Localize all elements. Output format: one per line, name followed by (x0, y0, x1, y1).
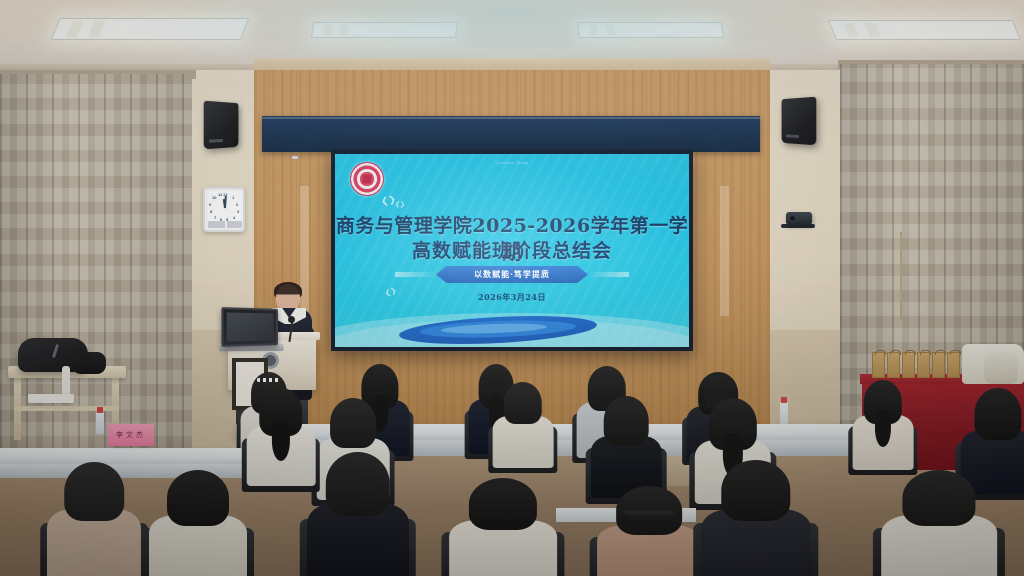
ceiling-light-2 (311, 22, 458, 38)
side-table-rail (14, 406, 119, 411)
slide-surface: Creative Study ❮❯ ❮❯ ❮❯ 商务与管理学院2025-2026… (335, 154, 689, 347)
clock-tick: 10 (212, 195, 216, 200)
name-placard-text: 李文杰 (116, 430, 146, 440)
audience-hair (330, 398, 376, 448)
ceiling-light-1 (51, 18, 250, 40)
wall-speaker-left (204, 101, 239, 150)
audience-hair (974, 388, 1021, 440)
clock-tick: 2 (236, 202, 238, 207)
clock-battery-compartment (208, 221, 242, 228)
attendee-17 (596, 486, 702, 576)
gift-bag (902, 352, 915, 378)
attendee-11 (590, 396, 662, 496)
wall-camera-icon (786, 212, 812, 225)
audience-ponytail (875, 410, 891, 447)
attendee-7 (852, 380, 914, 468)
attendee-13 (46, 462, 142, 576)
audience-hair (469, 478, 537, 530)
stage-valance (262, 116, 760, 152)
audience-hair (64, 462, 124, 521)
audience-hair (504, 382, 542, 424)
wood-groove-right (720, 186, 729, 316)
ceiling-light-4 (828, 20, 1021, 40)
gift-bag (932, 352, 945, 378)
audience-hair (326, 452, 390, 516)
laptop-screen[interactable] (221, 307, 278, 347)
clock-minute-hand (224, 196, 226, 208)
backpack (18, 338, 88, 372)
clock-face: 12 1 2 3 4 5 6 7 8 9 10 11 (208, 191, 242, 222)
white-chair-seat (28, 394, 74, 403)
attendee-4 (492, 382, 554, 466)
valance-dot (292, 156, 298, 159)
glasses-icon (625, 510, 674, 515)
wall-clock: 12 1 2 3 4 5 6 7 8 9 10 11 (203, 187, 245, 232)
name-placard: 李文杰 (108, 424, 154, 446)
conference-room-photo: 12 1 2 3 4 5 6 7 8 9 10 11 Creative Stud… (0, 0, 1024, 576)
audience-hair (167, 470, 229, 526)
hair-clip-icon (257, 378, 281, 382)
attendee-14 (148, 470, 248, 576)
projection-screen: Creative Study ❮❯ ❮❯ ❮❯ 商务与管理学院2025-2026… (331, 150, 693, 351)
clock-tick: 9 (209, 202, 211, 207)
water-bottle (780, 402, 788, 424)
gift-bag (887, 352, 900, 378)
projector-glow (335, 154, 689, 347)
gift-bag (947, 352, 960, 378)
clock-tick: 1 (232, 195, 234, 200)
water-bottle (96, 412, 104, 434)
audience-hair (604, 396, 649, 446)
curtain-pull-cord[interactable] (900, 232, 902, 320)
attendee-16 (448, 478, 558, 576)
clock-tick: 3 (237, 209, 239, 214)
clock-tick: 4 (233, 215, 235, 220)
audience-hair (721, 460, 790, 521)
audience-hair (902, 470, 975, 526)
attendee-19 (880, 470, 998, 576)
gift-bag (917, 352, 930, 378)
clock-tick: 7 (214, 215, 216, 220)
gift-bag (872, 352, 885, 378)
gift-cloth-bundle (984, 352, 1018, 384)
microphone-icon (288, 316, 295, 323)
wood-groove-left (300, 186, 309, 316)
wall-speaker-right (782, 97, 817, 146)
ceiling-light-3 (577, 22, 724, 38)
attendee-18 (700, 460, 812, 576)
clock-tick: 11 (218, 192, 222, 197)
attendee-15 (306, 452, 410, 576)
clock-tick: 8 (210, 209, 212, 214)
